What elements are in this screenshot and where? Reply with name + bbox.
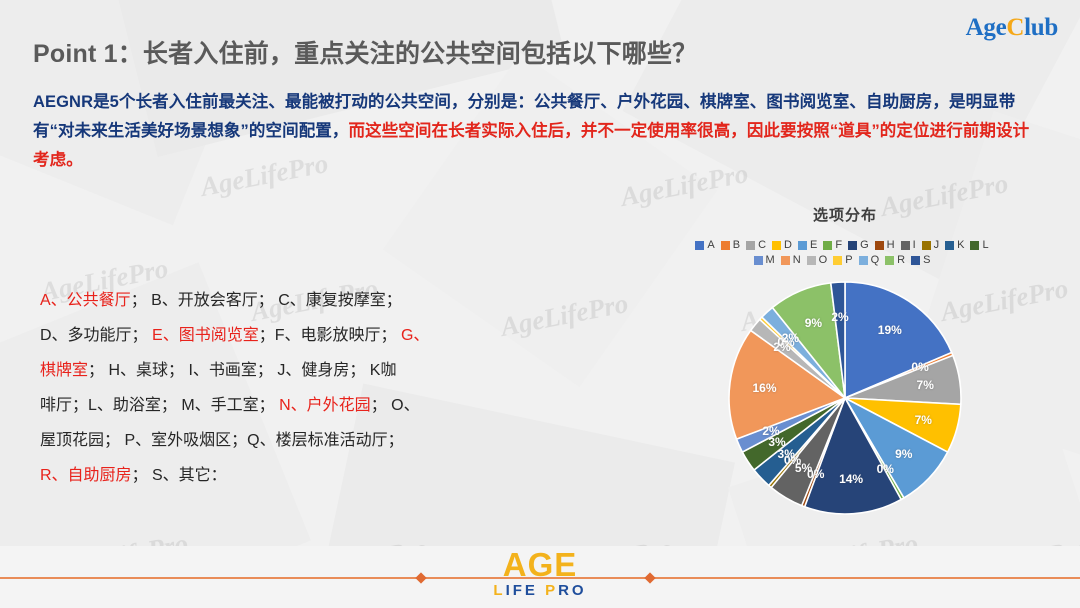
legend-swatch-icon bbox=[823, 241, 832, 250]
legend-label: A bbox=[707, 240, 714, 251]
brand-logo: AgeClub bbox=[966, 14, 1058, 42]
legend-label: S bbox=[923, 255, 930, 266]
legend-label: G bbox=[860, 240, 869, 251]
legend-item-m[interactable]: M bbox=[754, 255, 775, 266]
chart-panel: 选项分布 ABCDEFGHIJKLMNOPQRS 19%0%7%7%9%0%14… bbox=[630, 200, 1060, 545]
legend-label: C bbox=[758, 240, 766, 251]
slide-footer: AGE LIFE PRO bbox=[0, 546, 1080, 608]
brand-logo-lub: lub bbox=[1024, 14, 1058, 41]
legend-swatch-icon bbox=[807, 256, 816, 265]
pie-slice-label-m: 2% bbox=[762, 424, 779, 438]
legend-item-r[interactable]: R bbox=[885, 255, 905, 266]
legend-item-d[interactable]: D bbox=[772, 240, 792, 251]
legend-item-k[interactable]: K bbox=[945, 240, 964, 251]
legend-swatch-icon bbox=[772, 241, 781, 250]
legend-item-o[interactable]: O bbox=[807, 255, 828, 266]
pie-slice-label-b: 0% bbox=[911, 360, 928, 374]
options-line4-a: 啡厅；L、助浴室； M、手工室； bbox=[40, 397, 279, 414]
footer-logo-ife: IFE bbox=[506, 582, 546, 599]
options-line2-b: ；F、电影放映厅； bbox=[259, 327, 401, 344]
option-n-label: N、户外花园 bbox=[279, 397, 371, 414]
legend-item-l[interactable]: L bbox=[970, 240, 988, 251]
chart-title: 选项分布 bbox=[630, 204, 1060, 225]
legend-label: H bbox=[887, 240, 895, 251]
legend-label: E bbox=[810, 240, 817, 251]
legend-item-p[interactable]: P bbox=[833, 255, 852, 266]
option-g-prefix: G、 bbox=[401, 327, 429, 344]
legend-swatch-icon bbox=[875, 241, 884, 250]
legend-swatch-icon bbox=[833, 256, 842, 265]
legend-label: O bbox=[819, 255, 828, 266]
legend-item-i[interactable]: I bbox=[901, 240, 916, 251]
footer-logo-sub: LIFE PRO bbox=[0, 582, 1080, 600]
body-paragraph: AEGNR是5个长者入住前最关注、最能被打动的公共空间，分别是：公共餐厅、户外花… bbox=[33, 88, 1045, 175]
brand-logo-c: C bbox=[1006, 14, 1024, 41]
options-line6-rest: ； S、其它： bbox=[132, 467, 227, 484]
page-title: Point 1：长者入住前，重点关注的公共空间包括以下哪些？ bbox=[33, 34, 697, 70]
legend-item-s[interactable]: S bbox=[911, 255, 930, 266]
footer-logo-ro: RO bbox=[558, 582, 587, 599]
legend-swatch-icon bbox=[695, 241, 704, 250]
pie-slice-label-r: 9% bbox=[805, 316, 822, 330]
options-list: A、公共餐厅； B、开放会客厅； C、康复按摩室；D、多功能厅； E、图书阅览室… bbox=[40, 283, 600, 493]
legend-swatch-icon bbox=[781, 256, 790, 265]
legend-item-c[interactable]: C bbox=[746, 240, 766, 251]
legend-swatch-icon bbox=[911, 256, 920, 265]
pie-slice-label-g: 14% bbox=[839, 472, 863, 486]
legend-label: D bbox=[784, 240, 792, 251]
legend-item-e[interactable]: E bbox=[798, 240, 817, 251]
option-r-label: R、自助厨房 bbox=[40, 467, 132, 484]
options-line4-b: ； O、 bbox=[371, 397, 420, 414]
legend-swatch-icon bbox=[848, 241, 857, 250]
legend-item-b[interactable]: B bbox=[721, 240, 740, 251]
options-line5: 屋顶花园； P、室外吸烟区；Q、楼层标准活动厅； bbox=[40, 432, 404, 449]
brand-logo-age: Age bbox=[966, 14, 1007, 41]
option-e-label: E、图书阅览室 bbox=[152, 327, 259, 344]
pie-slice-label-c: 7% bbox=[917, 378, 934, 392]
legend-swatch-icon bbox=[922, 241, 931, 250]
legend-label: J bbox=[934, 240, 940, 251]
legend-swatch-icon bbox=[721, 241, 730, 250]
legend-label: F bbox=[835, 240, 842, 251]
legend-swatch-icon bbox=[859, 256, 868, 265]
options-line3-rest: ； H、桌球； I、书画室； J、健身房； K咖 bbox=[88, 362, 396, 379]
legend-swatch-icon bbox=[945, 241, 954, 250]
pie-slice-label-a: 19% bbox=[878, 323, 902, 337]
legend-label: P bbox=[845, 255, 852, 266]
legend-item-n[interactable]: N bbox=[781, 255, 801, 266]
pie-slice-label-n: 16% bbox=[752, 381, 776, 395]
legend-label: N bbox=[793, 255, 801, 266]
pie-slice-label-s: 2% bbox=[831, 310, 848, 324]
legend-swatch-icon bbox=[901, 241, 910, 250]
legend-item-g[interactable]: G bbox=[848, 240, 869, 251]
footer-logo-p: P bbox=[545, 582, 558, 599]
legend-label: L bbox=[982, 240, 988, 251]
legend-item-j[interactable]: J bbox=[922, 240, 940, 251]
pie-chart: 19%0%7%7%9%0%14%0%5%0%3%3%2%16%2%0%2%9%2… bbox=[725, 279, 965, 517]
legend-swatch-icon bbox=[970, 241, 979, 250]
footer-logo: AGE LIFE PRO bbox=[0, 548, 1080, 600]
legend-swatch-icon bbox=[885, 256, 894, 265]
legend-label: Q bbox=[871, 255, 880, 266]
legend-label: I bbox=[913, 240, 916, 251]
legend-label: K bbox=[957, 240, 964, 251]
legend-item-f[interactable]: F bbox=[823, 240, 842, 251]
legend-item-h[interactable]: H bbox=[875, 240, 895, 251]
pie-slice-label-e: 9% bbox=[895, 447, 912, 461]
legend-swatch-icon bbox=[746, 241, 755, 250]
legend-label: R bbox=[897, 255, 905, 266]
legend-label: M bbox=[766, 255, 775, 266]
chart-legend: ABCDEFGHIJKLMNOPQRS bbox=[685, 239, 1005, 269]
option-g-label: 棋牌室 bbox=[40, 362, 88, 379]
option-a-label: A、公共餐厅 bbox=[40, 292, 131, 309]
footer-logo-l: L bbox=[493, 582, 505, 599]
legend-item-a[interactable]: A bbox=[695, 240, 714, 251]
pie-slice-label-q: 2% bbox=[782, 331, 799, 345]
footer-logo-age: AGE bbox=[0, 548, 1080, 582]
legend-label: B bbox=[733, 240, 740, 251]
pie-slice-label-f: 0% bbox=[877, 462, 894, 476]
pie-slice-label-d: 7% bbox=[915, 413, 932, 427]
options-line1-rest: ； B、开放会客厅； C、康复按摩室； bbox=[131, 292, 402, 309]
legend-item-q[interactable]: Q bbox=[859, 255, 880, 266]
legend-swatch-icon bbox=[754, 256, 763, 265]
options-line2-a: D、多功能厅； bbox=[40, 327, 152, 344]
legend-swatch-icon bbox=[798, 241, 807, 250]
